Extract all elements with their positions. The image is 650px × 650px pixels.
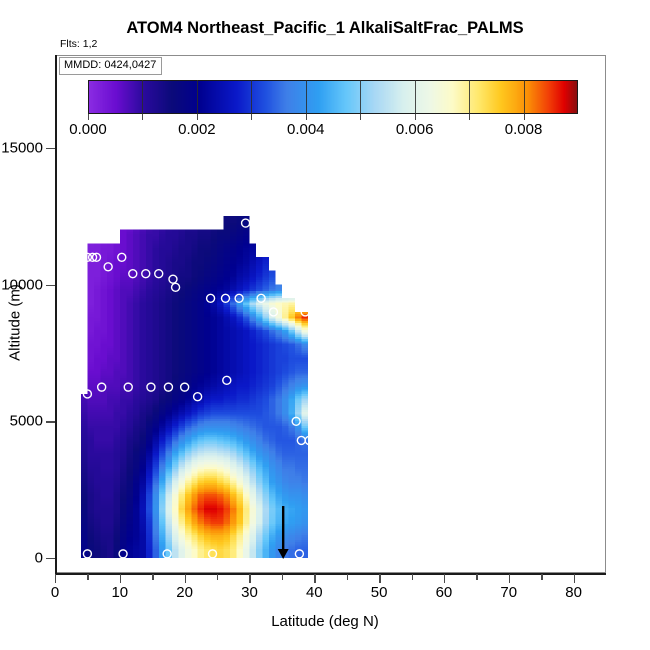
- x-axis-minor-tick: [87, 574, 88, 580]
- x-axis-tick: [185, 574, 186, 583]
- plot-root: ATOM4 Northeast_Pacific_1 AlkaliSaltFrac…: [0, 0, 650, 650]
- colorbar-tick-label: 0.002: [178, 121, 216, 138]
- y-axis-tick: [46, 285, 55, 286]
- x-axis-tick-label: 50: [371, 584, 388, 601]
- x-axis-tick-label: 0: [51, 584, 59, 601]
- x-axis-tick: [509, 574, 510, 583]
- colorbar-tick-label: 0.004: [287, 121, 325, 138]
- x-axis-minor-tick: [541, 574, 542, 580]
- colorbar-tick-label: 0.000: [69, 121, 107, 138]
- y-axis-tick: [46, 558, 55, 559]
- x-axis-tick-label: 60: [436, 584, 453, 601]
- y-axis-tick-label: 15000: [0, 139, 43, 156]
- x-axis-tick: [379, 574, 380, 583]
- y-axis-tick-label: 0: [0, 549, 43, 566]
- x-axis-tick: [249, 574, 250, 583]
- colorbar-tick-labels: 0.0000.0020.0040.0060.008: [88, 121, 578, 143]
- x-axis-tick-label: 20: [176, 584, 193, 601]
- y-axis-tick: [46, 148, 55, 149]
- x-axis-minor-tick: [152, 574, 153, 580]
- x-axis-tick: [444, 574, 445, 583]
- x-axis-tick-label: 70: [500, 584, 517, 601]
- colorbar-tick-label: 0.008: [505, 121, 543, 138]
- x-axis-minor-tick: [282, 574, 283, 580]
- x-axis-minor-tick: [217, 574, 218, 580]
- colorbar-inner-dividers: [88, 80, 578, 114]
- x-axis-minor-tick: [412, 574, 413, 580]
- mmdd-annotation: MMDD: 0424,0427: [59, 57, 162, 75]
- x-axis-tick: [574, 574, 575, 583]
- x-axis-tick: [55, 574, 56, 583]
- y-axis-tick: [46, 421, 55, 422]
- x-axis-minor-tick: [347, 574, 348, 580]
- x-axis-minor-tick: [476, 574, 477, 580]
- x-axis-tick-label: 80: [565, 584, 582, 601]
- colorbar-ticks: [88, 114, 578, 121]
- colorbar-tick-label: 0.006: [396, 121, 434, 138]
- colorbar: 0.0000.0020.0040.0060.008: [88, 80, 578, 114]
- x-axis-tick: [314, 574, 315, 583]
- page-title: ATOM4 Northeast_Pacific_1 AlkaliSaltFrac…: [0, 19, 650, 38]
- y-axis-line: [55, 55, 57, 573]
- x-axis-title: Latitude (deg N): [0, 613, 650, 630]
- x-axis-tick-label: 30: [241, 584, 258, 601]
- heatmap-canvas: [81, 216, 308, 558]
- x-axis-tick-label: 10: [111, 584, 128, 601]
- x-axis-tick: [120, 574, 121, 583]
- x-axis-tick-label: 40: [306, 584, 323, 601]
- y-axis-title: Altitude (m): [7, 223, 24, 423]
- flights-annotation: Flts: 1,2: [60, 38, 97, 50]
- x-axis-line: [55, 573, 606, 575]
